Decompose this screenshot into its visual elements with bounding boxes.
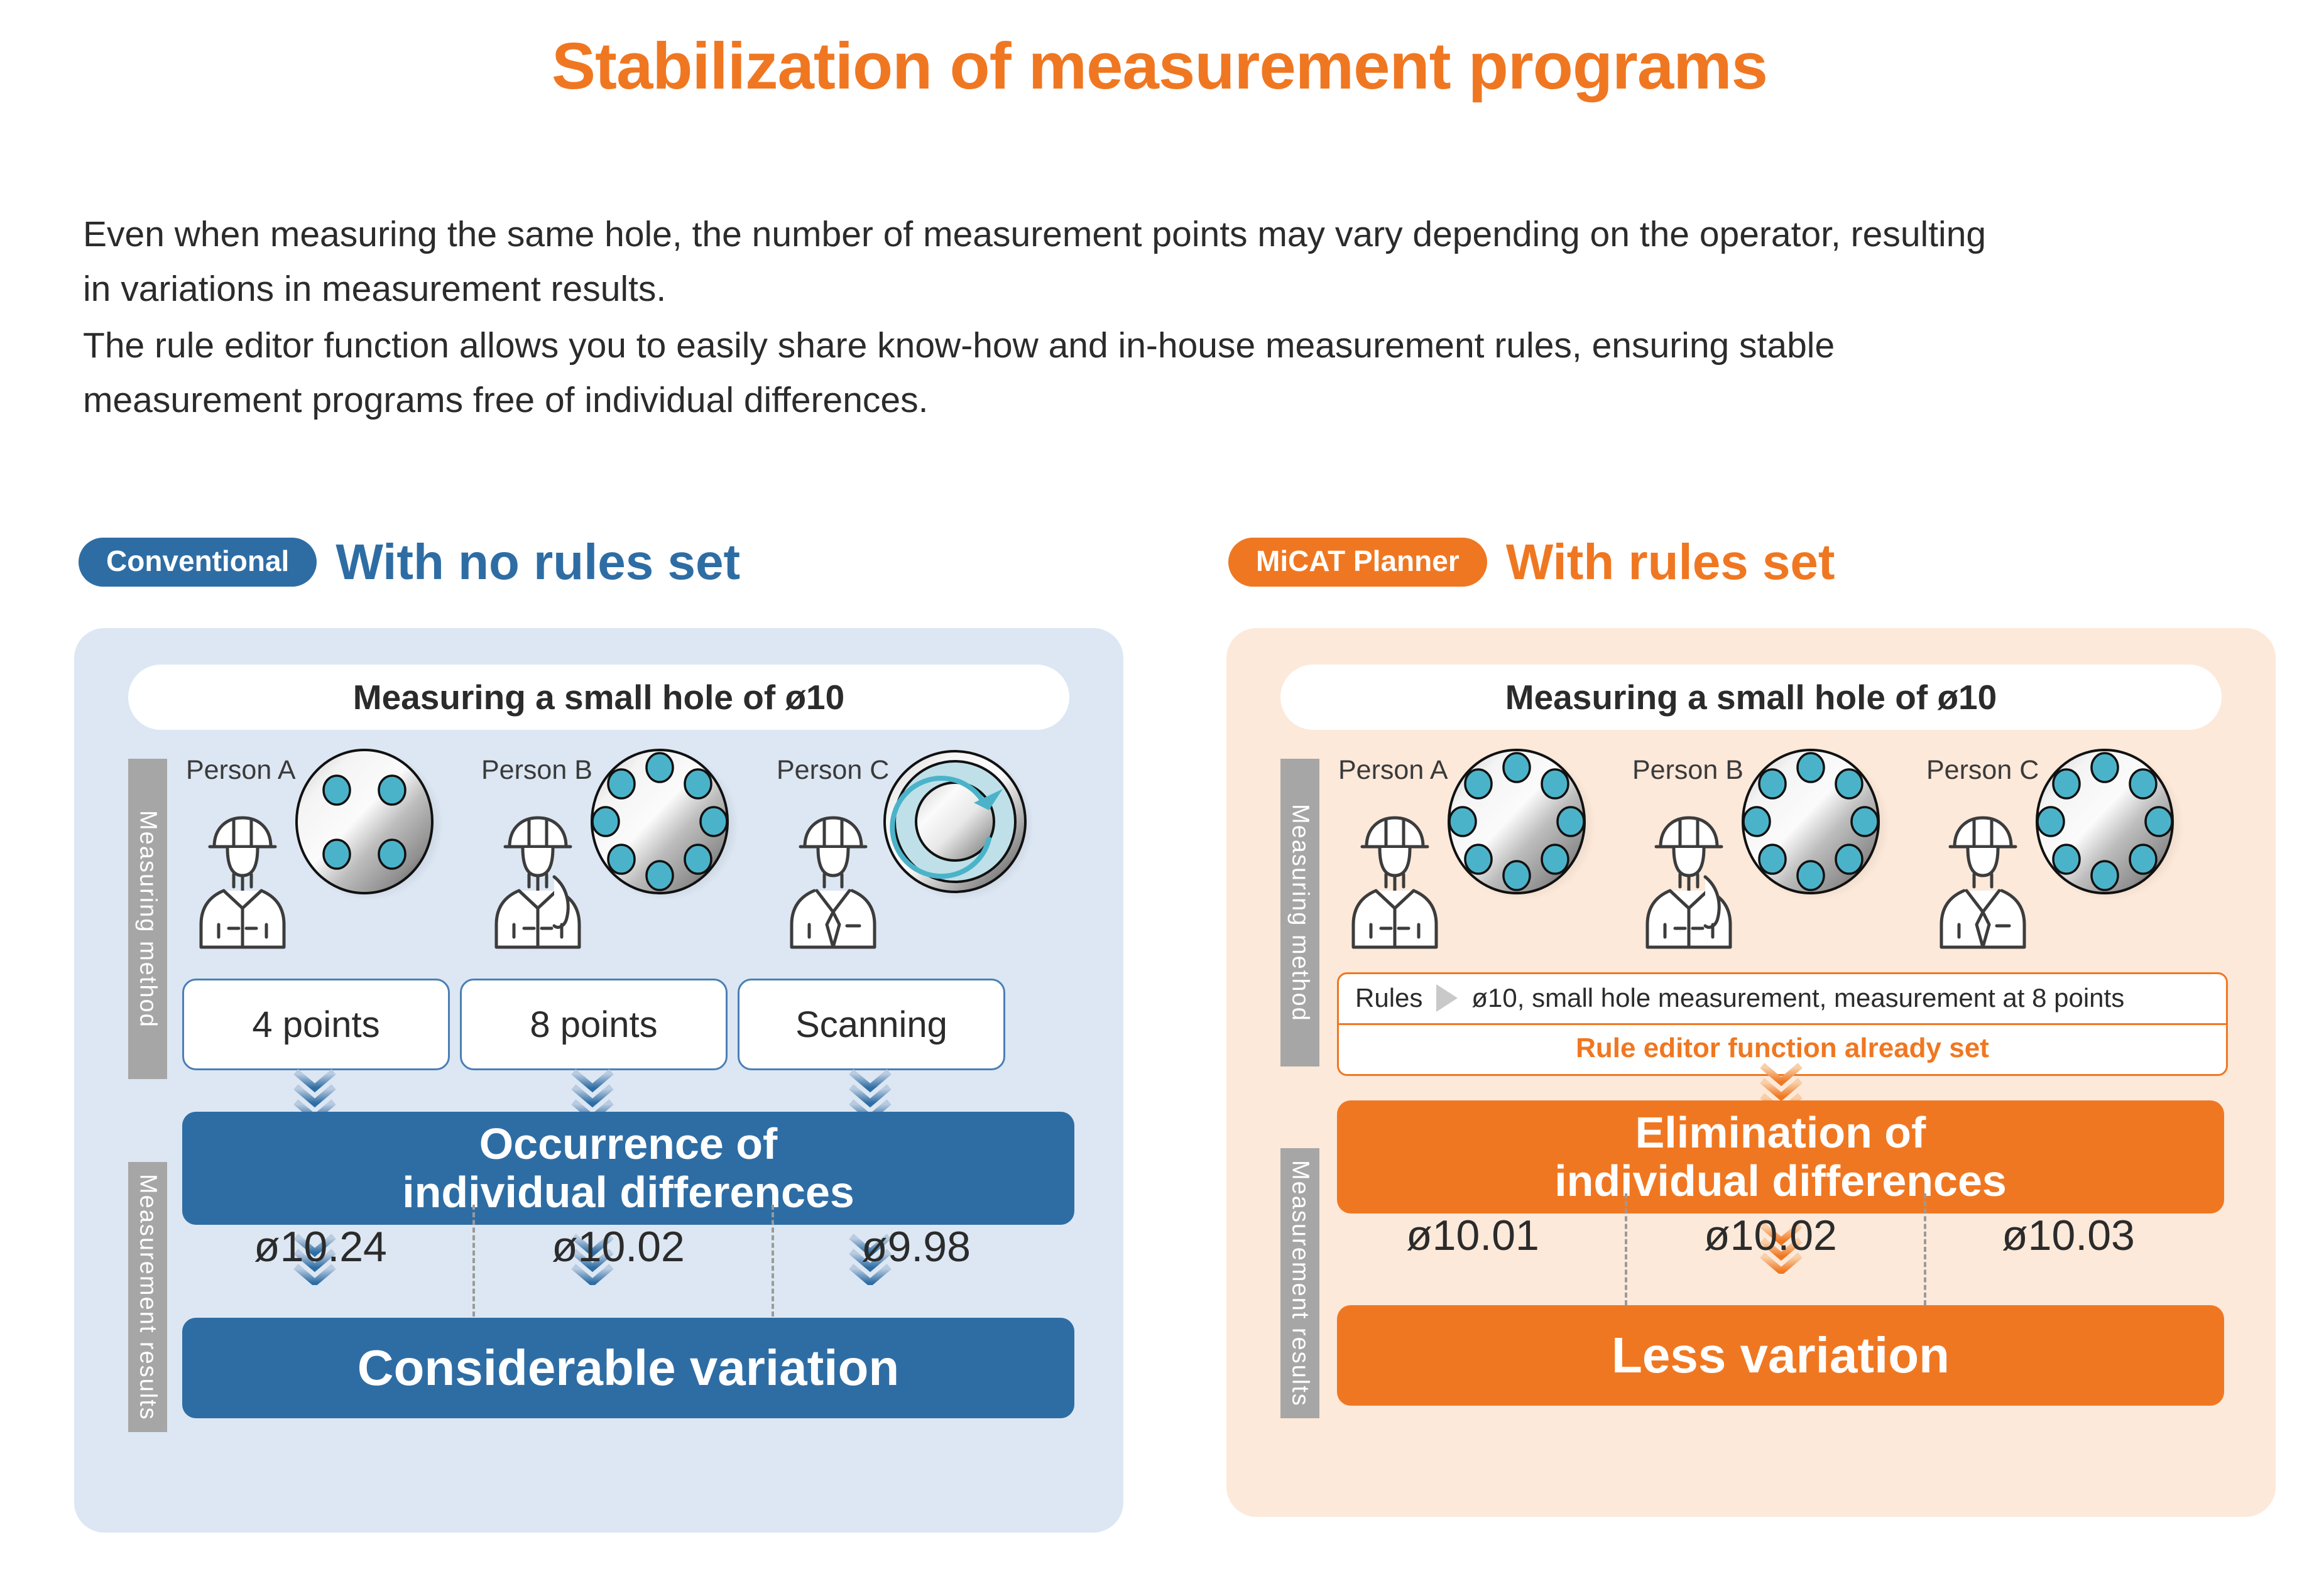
left-measurement-values: ø10.24 ø10.02 ø9.98	[182, 1219, 1074, 1313]
left-person-column-a: Person A	[182, 747, 471, 955]
left-person-c-name: Person C	[777, 755, 889, 786]
right-panel: Measuring a small hole of ø10 Measuring …	[1226, 628, 2276, 1517]
right-value-b: ø10.02	[1632, 1207, 1909, 1265]
infographic-page: Stabilization of measurement programs Ev…	[0, 0, 2319, 1596]
right-person-column-a: Person A	[1334, 747, 1623, 955]
right-mid-banner: Elimination of individual differences	[1337, 1100, 2224, 1213]
right-person-a-name: Person A	[1338, 755, 1448, 786]
intro-paragraph-2: The rule editor function allows you to e…	[83, 318, 2005, 427]
divider	[1625, 1193, 1627, 1305]
measurement-disc-8-points-icon	[583, 745, 740, 902]
left-section-heading: Conventional With no rules set	[79, 537, 740, 587]
play-triangle-icon	[1436, 984, 1458, 1012]
left-heading-title: With no rules set	[336, 537, 740, 587]
right-persons-row: Person A	[1334, 747, 2233, 955]
conventional-badge: Conventional	[79, 538, 317, 587]
left-method-box-b: 8 points	[460, 979, 728, 1070]
right-side-label-measurement-results: Measurement results	[1280, 1148, 1319, 1418]
left-value-b: ø10.02	[480, 1219, 756, 1276]
measurement-disc-8-points-icon	[1440, 745, 1597, 902]
measurement-disc-scanning-icon	[878, 745, 1035, 902]
left-mid-banner-line1: Occurrence of	[479, 1119, 778, 1168]
divider	[472, 1205, 475, 1316]
page-title: Stabilization of measurement programs	[0, 30, 2319, 103]
right-heading-title: With rules set	[1506, 537, 1835, 587]
worker-helmet-suit-icon	[1920, 801, 2046, 952]
right-value-a: ø10.01	[1334, 1207, 1611, 1265]
micat-planner-badge: MiCAT Planner	[1228, 538, 1487, 587]
intro-text: Even when measuring the same hole, the n…	[83, 207, 2005, 430]
left-mid-banner-line2: individual differences	[402, 1168, 854, 1217]
right-mid-banner-line1: Elimination of	[1635, 1108, 1926, 1157]
rules-text: ø10, small hole measurement, measurement…	[1471, 983, 2124, 1013]
rules-box: Rules ø10, small hole measurement, measu…	[1337, 972, 2228, 1076]
left-panel: Measuring a small hole of ø10 Measuring …	[74, 628, 1123, 1533]
worker-helmet-ponytail-icon	[475, 801, 601, 952]
left-person-column-b: Person B	[477, 747, 767, 955]
left-mid-banner: Occurrence of individual differences	[182, 1112, 1074, 1225]
worker-helmet-icon	[180, 801, 305, 952]
right-person-c-name: Person C	[1926, 755, 2039, 786]
right-person-b-name: Person B	[1632, 755, 1743, 786]
right-side-label-measuring-method: Measuring method	[1280, 759, 1319, 1067]
measurement-disc-4-points-icon	[288, 745, 445, 902]
divider	[772, 1205, 774, 1316]
right-bottom-banner: Less variation	[1337, 1305, 2224, 1406]
measurement-disc-8-points-icon	[2028, 745, 2185, 902]
divider	[1924, 1193, 1926, 1305]
right-section-heading: MiCAT Planner With rules set	[1228, 537, 1835, 587]
left-method-box-c: Scanning	[738, 979, 1005, 1070]
rules-row: Rules ø10, small hole measurement, measu…	[1339, 974, 2226, 1025]
right-person-column-c: Person C	[1923, 747, 2212, 955]
left-value-c: ø9.98	[778, 1219, 1054, 1276]
left-side-label-measurement-results: Measurement results	[128, 1162, 167, 1432]
left-bottom-banner: Considerable variation	[182, 1318, 1074, 1418]
worker-helmet-suit-icon	[770, 801, 896, 952]
right-value-c: ø10.03	[1930, 1207, 2207, 1265]
left-panel-topbar: Measuring a small hole of ø10	[128, 665, 1069, 730]
right-mid-banner-line2: individual differences	[1554, 1156, 2007, 1205]
left-person-b-name: Person B	[481, 755, 592, 786]
worker-helmet-icon	[1332, 801, 1458, 952]
right-measurement-values: ø10.01 ø10.02 ø10.03	[1334, 1207, 2227, 1301]
left-side-label-measuring-method: Measuring method	[128, 759, 167, 1079]
measurement-disc-8-points-icon	[1734, 745, 1891, 902]
left-person-column-c: Person C	[773, 747, 1062, 955]
intro-paragraph-1: Even when measuring the same hole, the n…	[83, 207, 2005, 316]
right-panel-topbar: Measuring a small hole of ø10	[1280, 665, 2222, 730]
worker-helmet-ponytail-icon	[1626, 801, 1752, 952]
left-value-a: ø10.24	[182, 1219, 459, 1276]
rules-label: Rules	[1355, 983, 1422, 1013]
right-person-column-b: Person B	[1629, 747, 1918, 955]
left-persons-row: Person A	[182, 747, 1074, 955]
left-method-box-a: 4 points	[182, 979, 450, 1070]
left-person-a-name: Person A	[186, 755, 296, 786]
